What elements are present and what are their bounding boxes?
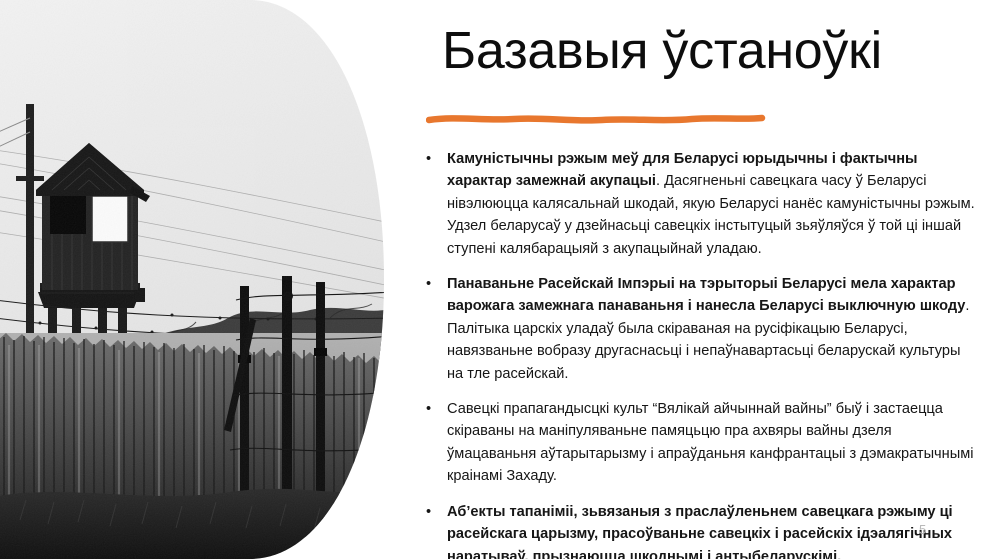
slide-content: Базавыя ўстаноўкі •Камуністычны рэжым ме… — [424, 0, 984, 559]
list-item: •Камуністычны рэжым меў для Беларусі юры… — [424, 148, 980, 260]
photo-illustration — [0, 0, 390, 559]
bullet-marker-icon: • — [426, 273, 440, 295]
list-item: •Панаваньне Расейскай Імпэрыі на тэрытор… — [424, 273, 980, 385]
presentation-slide: Базавыя ўстаноўкі •Камуністычны рэжым ме… — [0, 0, 1000, 559]
bullet-bold-text: Панаваньне Расейскай Імпэрыі на тэрыторы… — [447, 276, 965, 314]
bullet-body-text: Савецкі прапагандысцкі культ “Вялікай ай… — [447, 401, 973, 484]
page-number: 5 — [919, 522, 926, 537]
bullet-list: •Камуністычны рэжым меў для Беларусі юры… — [424, 148, 980, 559]
page-title: Базавыя ўстаноўкі — [442, 22, 882, 82]
bullet-bold-text: Аб’екты тапанімii, зьвязаныя з праслаўле… — [447, 504, 953, 559]
bullet-marker-icon: • — [426, 501, 440, 523]
orange-wavy-underline — [426, 108, 766, 130]
bullet-marker-icon: • — [426, 148, 440, 170]
guard-tower-barbed-wire-photo — [0, 0, 390, 559]
bullet-marker-icon: • — [426, 398, 440, 420]
list-item: •Савецкі прапагандысцкі культ “Вялікай а… — [424, 398, 980, 488]
list-item: •Аб’екты тапанімii, зьвязаныя з праслаўл… — [424, 501, 980, 559]
